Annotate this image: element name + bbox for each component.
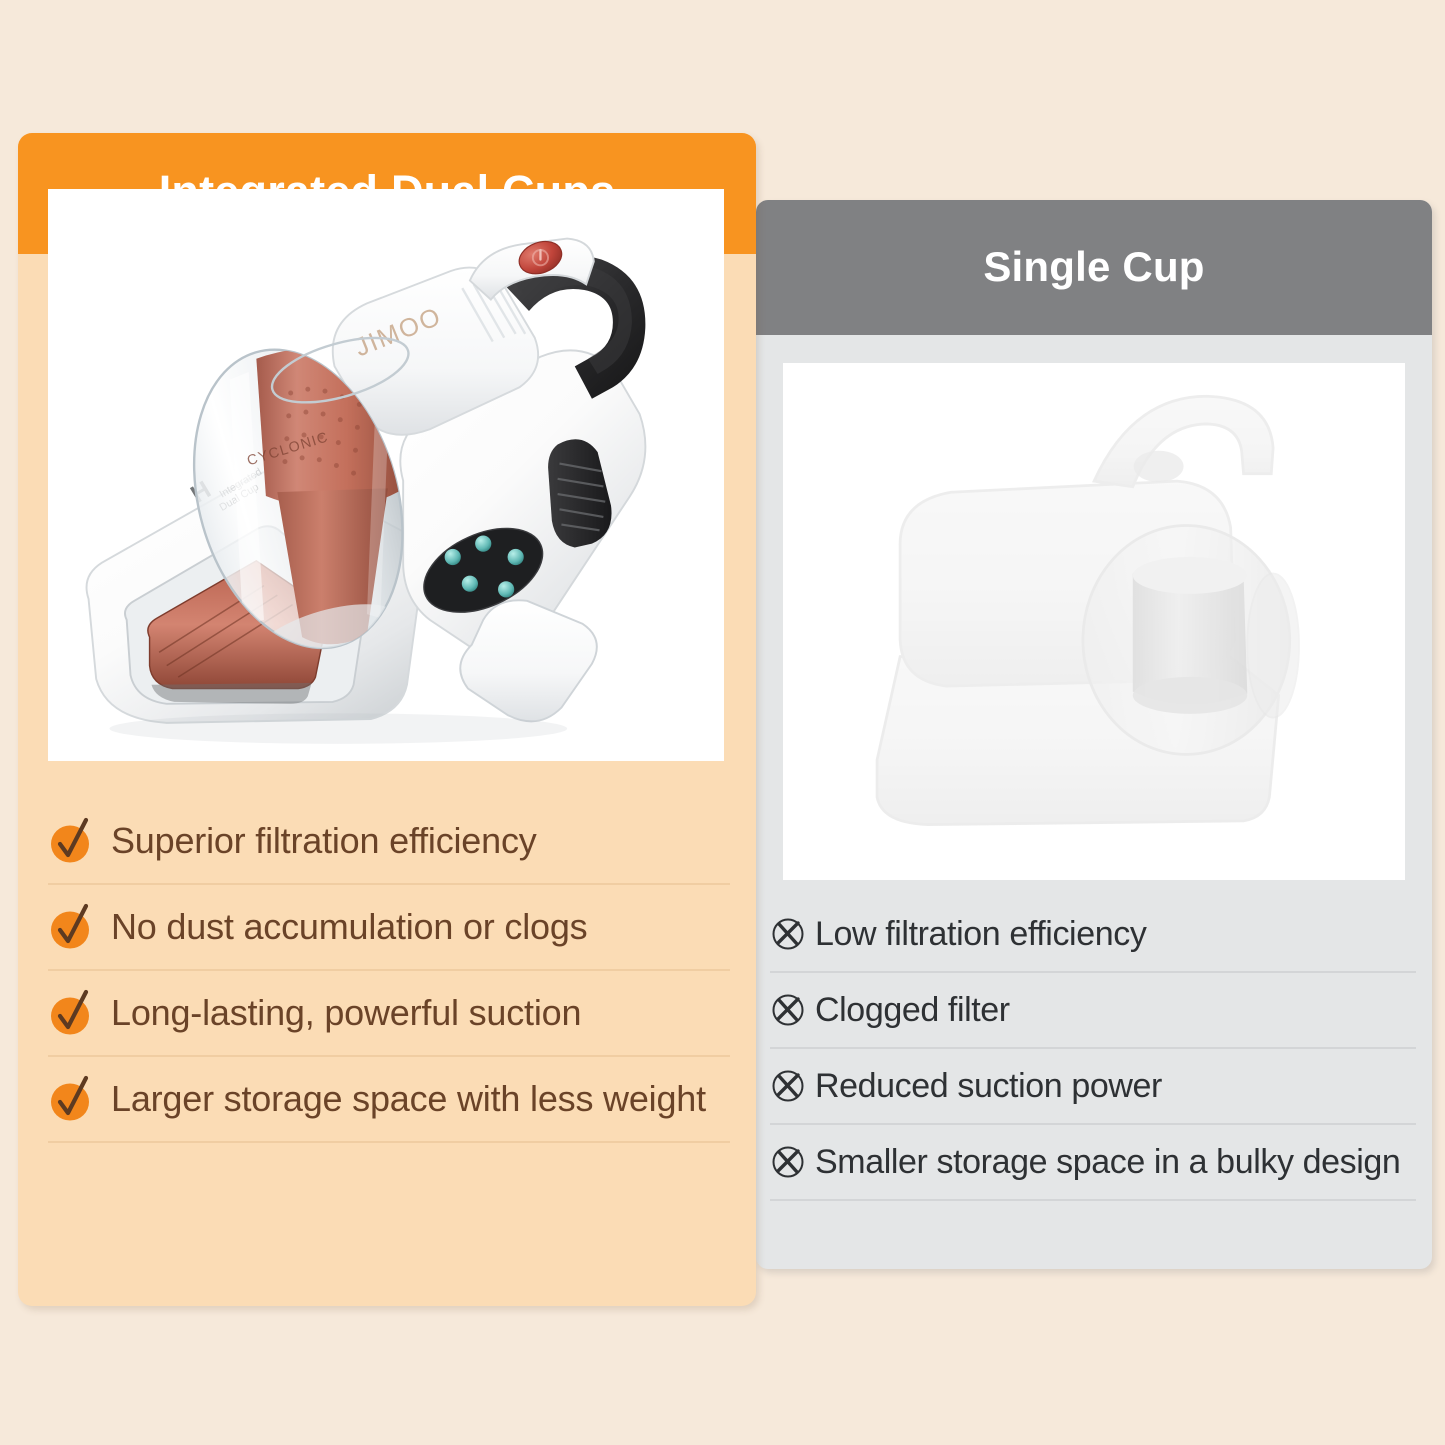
cross-icon [770, 916, 806, 952]
list-item: Larger storage space with less weight [48, 1057, 730, 1143]
single-cup-header: Single Cup [756, 200, 1432, 335]
list-item: Clogged filter [770, 973, 1416, 1049]
list-item: Long-lasting, powerful suction [48, 971, 730, 1057]
list-item-label: Smaller storage space in a bulky design [806, 1143, 1400, 1182]
dual-cup-product-image: H Integrated Dual Cup [48, 189, 724, 761]
list-item: Smaller storage space in a bulky design [770, 1125, 1416, 1201]
cross-icon [770, 1144, 806, 1180]
list-item: Superior filtration efficiency [48, 799, 730, 885]
check-icon [48, 1076, 94, 1122]
vacuum-illustration-faded [783, 363, 1405, 880]
integrated-dual-cups-panel: Integrated Dual Cups [18, 133, 756, 1306]
check-icon [48, 990, 94, 1036]
list-item-label: Reduced suction power [806, 1067, 1162, 1106]
list-item: Low filtration efficiency [770, 897, 1416, 973]
list-item: Reduced suction power [770, 1049, 1416, 1125]
list-item-label: Long-lasting, powerful suction [94, 992, 581, 1034]
cross-icon [770, 1068, 806, 1104]
list-item-label: Low filtration efficiency [806, 915, 1146, 954]
single-cup-panel: Single Cup [756, 200, 1432, 1269]
check-icon [48, 904, 94, 950]
vacuum-illustration: H Integrated Dual Cup [48, 189, 724, 761]
single-cup-product-image [783, 363, 1405, 880]
list-item: No dust accumulation or clogs [48, 885, 730, 971]
check-icon [48, 818, 94, 864]
dual-cup-feature-list: Superior filtration efficiency No dust a… [18, 799, 756, 1143]
cross-icon [770, 992, 806, 1028]
comparison-infographic: Single Cup [0, 0, 1445, 1445]
single-cup-feature-list: Low filtration efficiency Clogged filter [756, 897, 1432, 1201]
list-item-label: Superior filtration efficiency [94, 820, 537, 862]
single-cup-title: Single Cup [983, 243, 1204, 291]
list-item-label: Larger storage space with less weight [94, 1078, 706, 1120]
list-item-label: No dust accumulation or clogs [94, 906, 587, 948]
list-item-label: Clogged filter [806, 991, 1010, 1030]
